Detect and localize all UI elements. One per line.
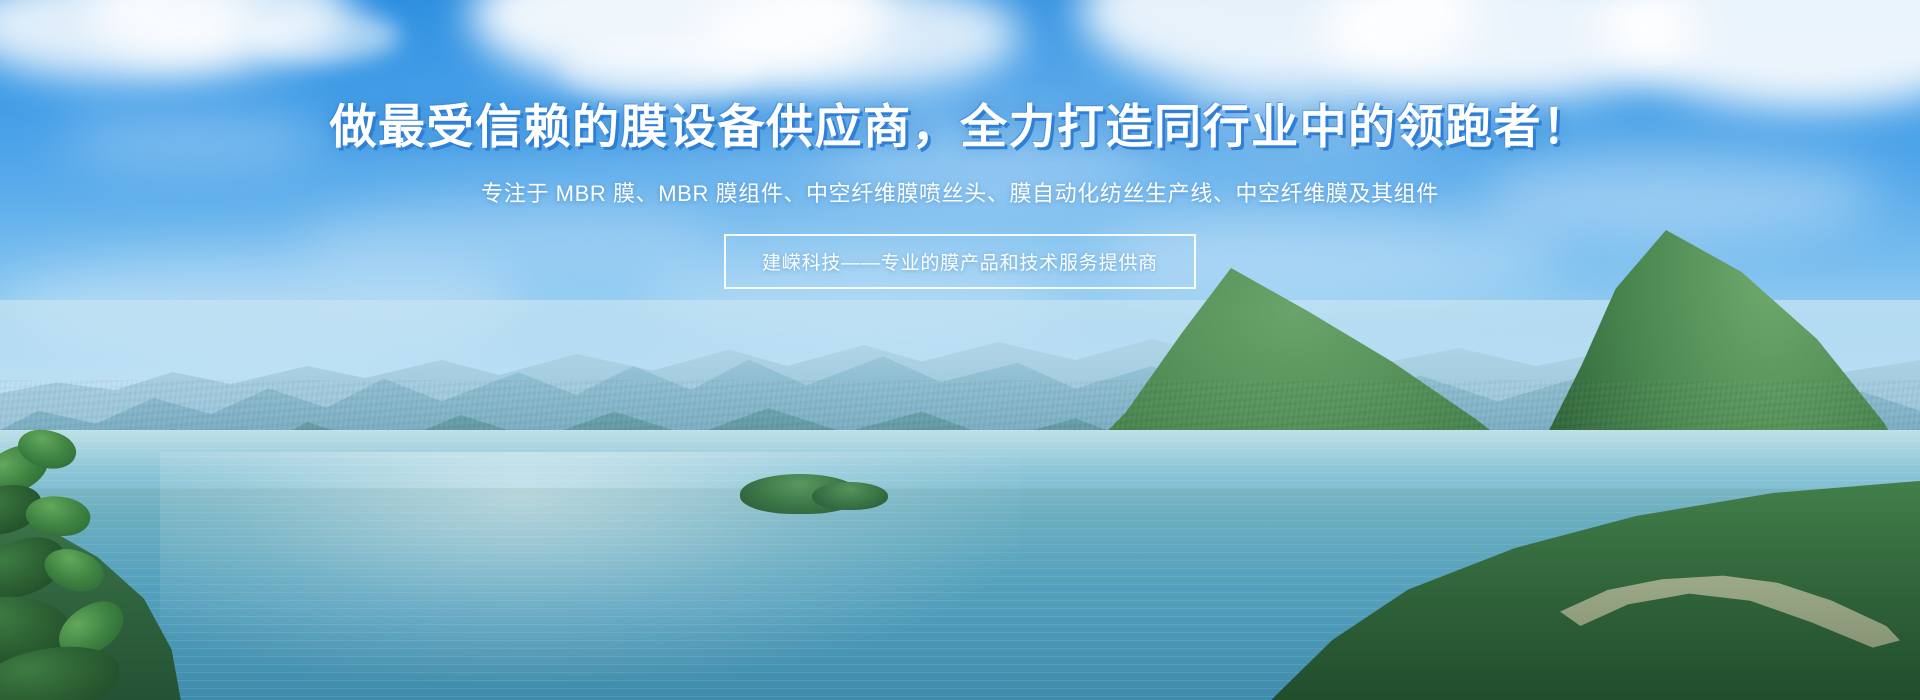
- banner-tagline-box: 建嵘科技——专业的膜产品和技术服务提供商: [724, 234, 1196, 289]
- hero-banner: 做最受信赖的膜设备供应商，全力打造同行业中的领跑者！ 专注于 MBR 膜、MBR…: [0, 0, 1920, 700]
- banner-subheadline: 专注于 MBR 膜、MBR 膜组件、中空纤维膜喷丝头、膜自动化纺丝生产线、中空纤…: [481, 176, 1439, 208]
- banner-content: 做最受信赖的膜设备供应商，全力打造同行业中的领跑者！ 专注于 MBR 膜、MBR…: [0, 0, 1920, 700]
- banner-headline: 做最受信赖的膜设备供应商，全力打造同行业中的领跑者！: [330, 100, 1591, 154]
